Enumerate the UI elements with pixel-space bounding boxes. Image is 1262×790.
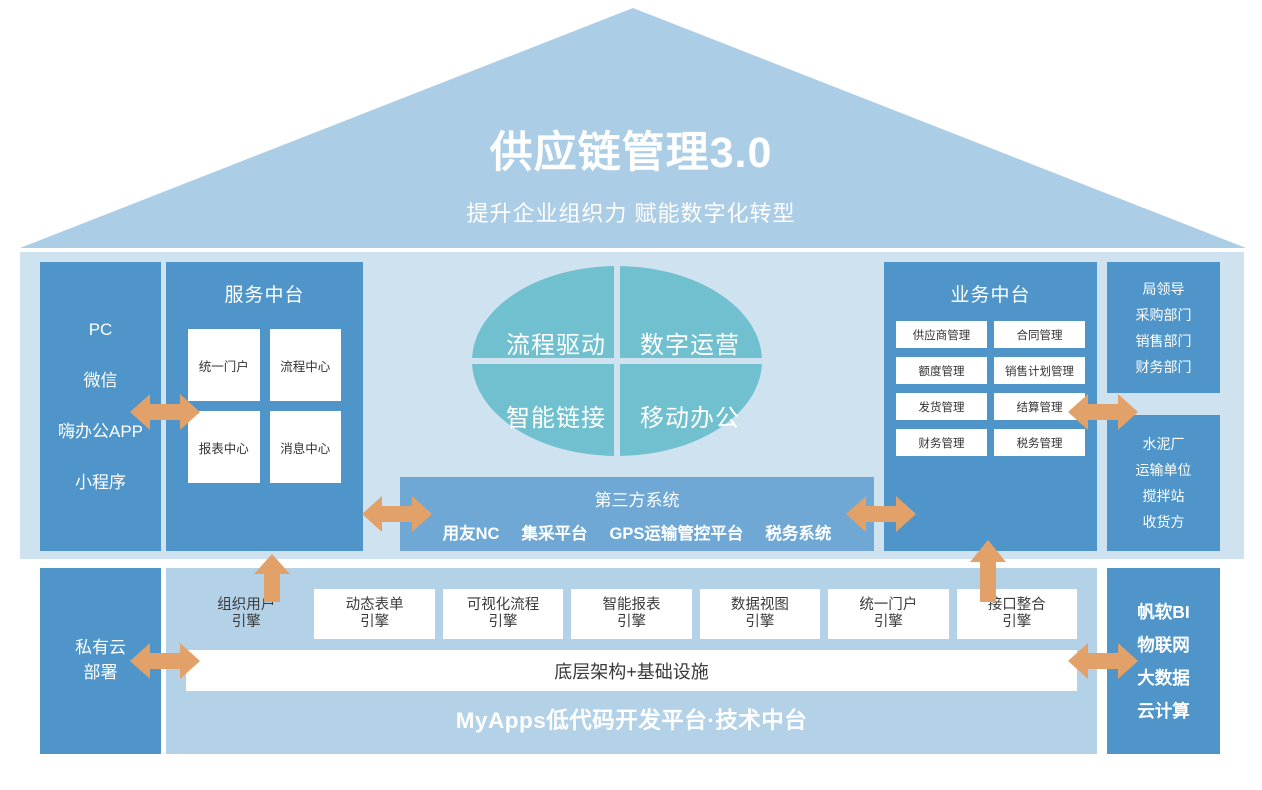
engine-label-line2: 引擎 (745, 614, 774, 631)
engine-label-line2: 引擎 (874, 614, 903, 631)
engine-label-line1: 可视化流程 (467, 597, 540, 614)
arrow-platform-to-techstack (1068, 639, 1138, 683)
third-party-system-list: 用友NC 集采平台 GPS运输管控平台 税务系统 (400, 511, 874, 544)
external-role-item: 水泥厂 (1143, 434, 1185, 454)
engine-card[interactable]: 可视化流程 引擎 (443, 589, 563, 639)
arrow-deployment-to-platform (130, 639, 200, 683)
third-party-system[interactable]: 集采平台 (521, 520, 587, 544)
arrow-platform-up-to-business (966, 540, 1010, 602)
third-party-system[interactable]: 税务系统 (765, 520, 831, 544)
tech-stack-item: 云计算 (1137, 698, 1190, 723)
business-module-grid: 供应商管理 合同管理 额度管理 销售计划管理 发货管理 结算管理 财务管理 税务… (884, 307, 1097, 456)
tech-stack-item: 物联网 (1137, 632, 1190, 657)
engine-card[interactable]: 统一门户 引擎 (828, 589, 948, 639)
supply-chain-architecture-diagram: 供应链管理3.0 提升企业组织力 赋能数字化转型 PC 微信 嗨办公APP 小程… (0, 0, 1262, 790)
engine-label-line1: 数据视图 (731, 597, 789, 614)
engine-label-line2: 引擎 (232, 614, 261, 631)
business-module[interactable]: 合同管理 (994, 321, 1085, 348)
tech-stack-item: 帆软BI (1137, 599, 1190, 624)
business-module[interactable]: 销售计划管理 (994, 357, 1085, 384)
business-platform-title: 业务中台 (884, 262, 1097, 307)
engine-label-line1: 智能报表 (602, 597, 660, 614)
engine-label-line2: 引擎 (360, 614, 389, 631)
engine-label-line2: 引擎 (1002, 614, 1031, 631)
internal-role-item: 局领导 (1143, 279, 1185, 299)
deployment-label-line1: 私有云 (75, 636, 126, 661)
service-module[interactable]: 消息中心 (270, 411, 342, 483)
service-platform-title: 服务中台 (166, 262, 363, 307)
deployment-label-line2: 部署 (84, 661, 118, 686)
engine-card[interactable]: 动态表单 引擎 (314, 589, 434, 639)
business-module[interactable]: 额度管理 (896, 357, 987, 384)
engine-label-line2: 引擎 (617, 614, 646, 631)
access-channel-item: 小程序 (75, 468, 126, 493)
business-module[interactable]: 财务管理 (896, 429, 987, 456)
engine-label-line1: 动态表单 (346, 597, 404, 614)
external-role-item: 运输单位 (1136, 460, 1192, 480)
engine-row: 组织用户 引擎 动态表单 引擎 可视化流程 引擎 智能报表 引擎 数据视图 引擎… (166, 568, 1097, 639)
arrow-service-to-thirdparty (362, 492, 432, 536)
external-role-item: 收货方 (1143, 512, 1185, 532)
service-module[interactable]: 流程中心 (270, 329, 342, 401)
external-role-item: 搅拌站 (1143, 486, 1185, 506)
business-module[interactable]: 发货管理 (896, 393, 987, 420)
arrow-channels-to-service (130, 390, 200, 434)
third-party-system[interactable]: 用友NC (443, 520, 500, 544)
third-party-title: 第三方系统 (400, 477, 874, 511)
core-capability-label: 数字运营 (640, 325, 740, 360)
business-module[interactable]: 供应商管理 (896, 321, 987, 348)
roof-section: 供应链管理3.0 提升企业组织力 赋能数字化转型 (0, 0, 1262, 252)
internal-roles-panel: 局领导 采购部门 销售部门 财务部门 (1107, 262, 1220, 393)
access-channel-item: PC (89, 320, 113, 340)
internal-role-item: 财务部门 (1136, 357, 1192, 377)
tech-stack-item: 大数据 (1137, 665, 1190, 690)
engine-label-line1: 统一门户 (859, 597, 917, 614)
core-capability-label: 流程驱动 (506, 325, 606, 360)
engine-card[interactable]: 智能报表 引擎 (571, 589, 691, 639)
internal-role-item: 销售部门 (1136, 331, 1192, 351)
engine-card[interactable]: 数据视图 引擎 (700, 589, 820, 639)
infrastructure-bar: 底层架构+基础设施 (186, 650, 1077, 691)
page-subtitle: 提升企业组织力 赋能数字化转型 (0, 196, 1262, 228)
arrow-thirdparty-to-business (846, 492, 916, 536)
engine-label-line2: 引擎 (489, 614, 518, 631)
external-roles-panel: 水泥厂 运输单位 搅拌站 收货方 (1107, 415, 1220, 551)
core-capability-label: 智能链接 (506, 398, 606, 433)
arrow-business-to-roles (1068, 390, 1138, 434)
internal-role-item: 采购部门 (1136, 305, 1192, 325)
arrow-platform-up-to-service (250, 554, 294, 602)
page-title: 供应链管理3.0 (0, 118, 1262, 180)
third-party-systems-panel: 第三方系统 用友NC 集采平台 GPS运输管控平台 税务系统 (400, 477, 874, 551)
third-party-system[interactable]: GPS运输管控平台 (609, 520, 743, 544)
tech-platform-panel: 组织用户 引擎 动态表单 引擎 可视化流程 引擎 智能报表 引擎 数据视图 引擎… (166, 568, 1097, 754)
core-capability-label: 移动办公 (640, 398, 740, 433)
access-channel-item: 微信 (84, 366, 118, 391)
platform-footer-label: MyApps低代码开发平台·技术中台 (166, 703, 1097, 735)
